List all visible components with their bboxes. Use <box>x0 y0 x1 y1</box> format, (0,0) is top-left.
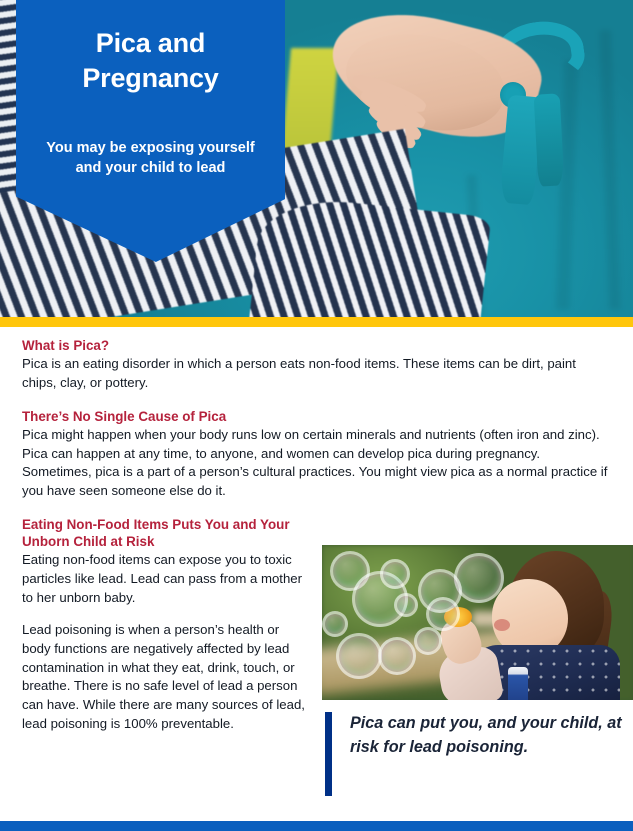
section-body: Pica is an eating disorder in which a pe… <box>22 355 611 392</box>
pull-quote: Pica can put you, and your child, at ris… <box>325 712 625 796</box>
yellow-divider <box>0 317 633 327</box>
page-title: Pica and Pregnancy <box>34 26 267 95</box>
photo-child-blowing-bubbles <box>322 545 633 700</box>
hero-striped-sleeve-right <box>249 193 491 317</box>
section-no-single-cause: There’s No Single Cause of Pica Pica mig… <box>22 408 611 501</box>
pull-quote-text: Pica can put you, and your child, at ris… <box>350 712 625 759</box>
bubble-bottle <box>508 667 528 700</box>
child-lips <box>494 619 510 631</box>
footer-bar <box>0 821 633 831</box>
bubble <box>426 597 460 631</box>
page-subtitle: You may be exposing yourself and your ch… <box>34 139 267 178</box>
bubble <box>378 637 416 675</box>
section-what-is-pica: What is Pica? Pica is an eating disorder… <box>22 337 611 393</box>
section-body: Eating non-food items can expose you to … <box>22 551 310 607</box>
bubble <box>414 627 442 655</box>
dress-fold <box>599 30 621 310</box>
infographic-page: Pica and Pregnancy You may be exposing y… <box>0 0 633 831</box>
section-heading: Eating Non-Food Items Puts You and Your … <box>22 516 310 550</box>
section-heading: What is Pica? <box>22 337 611 354</box>
section-heading: There’s No Single Cause of Pica <box>22 408 611 425</box>
bubble <box>380 559 410 589</box>
bubble <box>394 593 418 617</box>
bubble <box>336 633 382 679</box>
section-body-secondary: Lead poisoning is when a person’s health… <box>22 621 310 733</box>
section-body: Pica might happen when your body runs lo… <box>22 426 611 501</box>
left-column: Eating Non-Food Items Puts You and Your … <box>22 516 310 734</box>
hero-image: Pica and Pregnancy You may be exposing y… <box>0 0 633 317</box>
dress-bow-tail <box>534 93 565 186</box>
bubble <box>322 611 348 637</box>
